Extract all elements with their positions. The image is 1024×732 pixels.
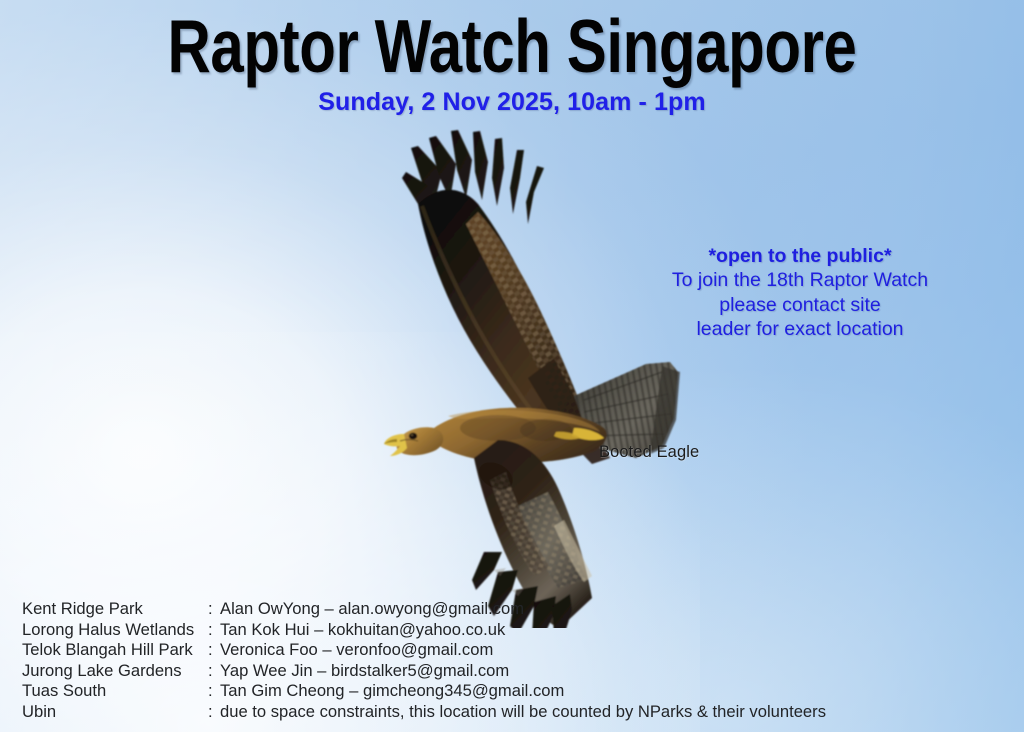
contact-separator: : (208, 620, 220, 641)
contact-person: Tan Kok Hui – kokhuitan@yahoo.co.uk (220, 620, 505, 641)
contact-row: Telok Blangah Hill Park:Veronica Foo – v… (22, 640, 826, 661)
page-title: Raptor Watch Singapore (102, 10, 921, 84)
contact-separator: : (208, 640, 220, 661)
contact-person: Tan Gim Cheong – gimcheong345@gmail.com (220, 681, 564, 702)
contact-separator: : (208, 702, 220, 723)
contact-site-name: Ubin (22, 702, 208, 723)
public-notice: *open to the public* To join the 18th Ra… (600, 244, 1000, 342)
contact-row: Jurong Lake Gardens:Yap Wee Jin – birdst… (22, 661, 826, 682)
contact-row: Lorong Halus Wetlands:Tan Kok Hui – kokh… (22, 620, 826, 641)
contact-separator: : (208, 599, 220, 620)
contact-row: Kent Ridge Park:Alan OwYong – alan.owyon… (22, 599, 826, 620)
contact-site-name: Lorong Halus Wetlands (22, 620, 208, 641)
contact-site-name: Kent Ridge Park (22, 599, 208, 620)
contact-row: Tuas South:Tan Gim Cheong – gimcheong345… (22, 681, 826, 702)
raptor-watch-poster: Raptor Watch Singapore Sunday, 2 Nov 202… (0, 0, 1024, 732)
contact-person: Yap Wee Jin – birdstalker5@gmail.com (220, 661, 509, 682)
site-contact-list: Kent Ridge Park:Alan OwYong – alan.owyon… (22, 599, 826, 723)
contact-site-name: Jurong Lake Gardens (22, 661, 208, 682)
event-datetime: Sunday, 2 Nov 2025, 10am - 1pm (0, 88, 1024, 117)
contact-site-name: Telok Blangah Hill Park (22, 640, 208, 661)
contact-person: Alan OwYong – alan.owyong@gmail.com (220, 599, 524, 620)
contact-separator: : (208, 681, 220, 702)
notice-line-2: To join the 18th Raptor Watch (600, 268, 1000, 292)
notice-line-3: please contact site (600, 293, 1000, 317)
contact-person: Veronica Foo – veronfoo@gmail.com (220, 640, 493, 661)
contact-site-name: Tuas South (22, 681, 208, 702)
species-caption: Booted Eagle (599, 443, 699, 462)
contact-row: Ubin:due to space constraints, this loca… (22, 702, 826, 723)
booted-eagle-image (378, 128, 708, 628)
notice-line-4: leader for exact location (600, 317, 1000, 341)
contact-person: due to space constraints, this location … (220, 702, 826, 723)
contact-separator: : (208, 661, 220, 682)
notice-line-open-to-public: *open to the public* (600, 244, 1000, 268)
